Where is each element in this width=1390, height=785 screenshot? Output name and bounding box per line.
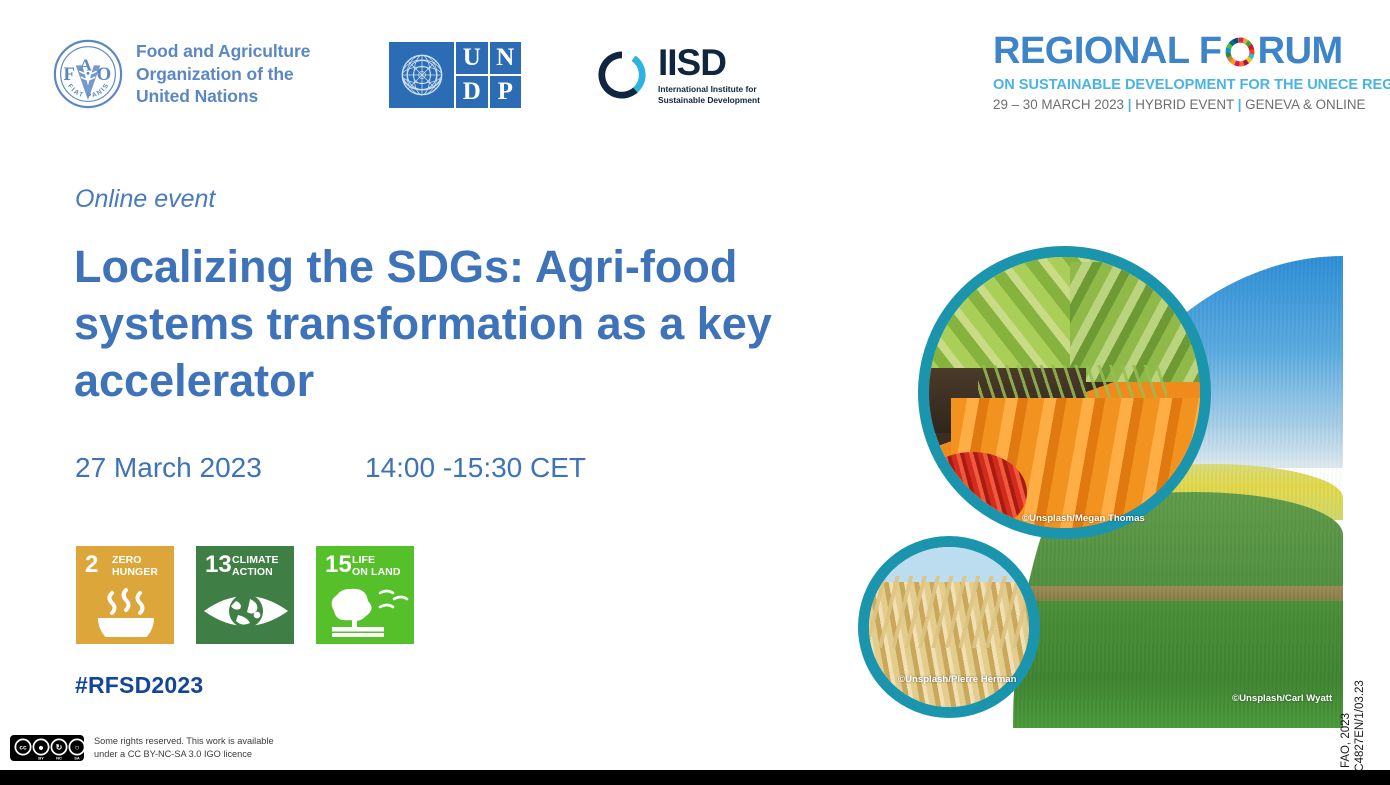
fao-copyright: ©FAO, 2023 [1340, 660, 1352, 780]
regional-forum-details: 29 – 30 MARCH 2023 | HYBRID EVENT | GENE… [993, 97, 1353, 112]
wheat-photo-circle [858, 536, 1040, 718]
bowl-of-food-icon [76, 585, 176, 637]
event-date: 27 March 2023 [75, 452, 365, 484]
sdg-goal-15-label-line-1: LIFE [352, 555, 401, 567]
fao-wordmark-line-3: United Nations [136, 85, 310, 107]
bottom-black-bar [0, 770, 1390, 785]
tree-birds-icon [316, 585, 416, 637]
sdg-goal-13-label: CLIMATE ACTION [232, 555, 279, 579]
regional-forum-logo: REGIONAL F [993, 32, 1353, 112]
iisd-logo: IISD International Institute for Sustain… [598, 44, 760, 106]
regional-forum-location: GENEVA & ONLINE [1245, 97, 1365, 112]
regional-forum-dates: 29 – 30 MARCH 2023 [993, 97, 1124, 112]
sdg-goal-15-label: LIFE ON LAND [352, 555, 401, 579]
sdg-goal-13-label-line-2: ACTION [232, 567, 279, 579]
svg-text:cc: cc [19, 745, 27, 752]
separator-2: | [1238, 97, 1242, 112]
vegetables-photo-circle [918, 246, 1211, 539]
separator-1: | [1128, 97, 1132, 112]
svg-text:↻: ↻ [56, 743, 63, 752]
sdg-goal-2-number: 2 [85, 553, 98, 577]
sdg-goal-2-label-line-1: ZERO [112, 555, 158, 567]
page-title-line-3: accelerator [74, 352, 822, 409]
sdg-goal-13-number: 13 [205, 553, 232, 577]
sdg-goal-list: 2 ZERO HUNGER 13 CLIMATE ACTION [76, 546, 414, 644]
fao-logo: F A O FIAT PANIS Food and Agriculture Or… [52, 38, 310, 110]
wheat-photo-credit: ©Unsplash/Pierre Herman [898, 674, 1017, 685]
creative-commons-badge-icon: cc ● ↻ ○ BYNCSA [10, 735, 84, 761]
iisd-subtitle-line-2: Sustainable Development [658, 95, 760, 106]
sdg-goal-13-label-line-1: CLIMATE [232, 555, 279, 567]
vegetables-photo-credit: ©Unsplash/Megan Thomas [1022, 513, 1145, 524]
un-emblem-icon [388, 41, 455, 109]
sdg-goal-15-tile: 15 LIFE ON LAND [316, 546, 414, 644]
chili-peppers-region [918, 452, 1026, 533]
regional-forum-title-before: REGIONAL F [993, 32, 1222, 70]
svg-text:NC: NC [56, 756, 62, 761]
sdg-goal-2-tile: 2 ZERO HUNGER [76, 546, 174, 644]
regional-forum-title-after: RUM [1258, 32, 1343, 70]
page-title-line-1: Localizing the SDGs: Agri-food [74, 238, 822, 295]
iisd-subtitle-line-1: International Institute for [658, 84, 760, 95]
image-collage: ©Unsplash/Megan Thomas ©Unsplash/Pierre … [850, 238, 1350, 728]
sdg-goal-2-label: ZERO HUNGER [112, 555, 158, 579]
svg-text:F: F [64, 64, 75, 85]
svg-text:○: ○ [75, 743, 80, 752]
vegetables-photo [929, 257, 1200, 528]
event-kicker: Online event [75, 185, 215, 214]
sdg-goal-13-tile: 13 CLIMATE ACTION [196, 546, 294, 644]
sdg-color-wheel-icon [1223, 35, 1257, 69]
undp-letter-u: U [455, 41, 489, 75]
licence-text: Some rights reserved. This work is avail… [94, 735, 274, 762]
event-datetime: 27 March 2023 14:00 -15:30 CET [75, 452, 675, 484]
svg-text:SA: SA [74, 756, 80, 761]
licence-line-1: Some rights reserved. This work is avail… [94, 735, 274, 748]
svg-text:BY: BY [38, 756, 44, 761]
sdg-goal-2-label-line-2: HUNGER [112, 567, 158, 579]
iisd-subtitle: International Institute for Sustainable … [658, 84, 760, 106]
iisd-circle-icon [598, 51, 646, 99]
cucumbers-region [1070, 262, 1200, 381]
fao-wordmark: Food and Agriculture Organization of the… [136, 40, 310, 107]
regional-forum-subtitle: ON SUSTAINABLE DEVELOPMENT FOR THE UNECE… [993, 77, 1353, 93]
event-hashtag: #RFSD2023 [75, 672, 203, 699]
regional-forum-title: REGIONAL F [993, 32, 1353, 70]
fao-wordmark-line-1: Food and Agriculture [136, 40, 310, 62]
fao-seal-icon: F A O FIAT PANIS [52, 38, 124, 110]
undp-logo: U N D P [388, 41, 522, 109]
undp-letter-d: D [455, 75, 489, 109]
page-title-line-2: systems transformation as a key [74, 295, 822, 352]
regional-forum-format: HYBRID EVENT [1135, 97, 1234, 112]
event-time: 14:00 -15:30 CET [365, 452, 586, 484]
svg-text:●: ● [38, 743, 44, 754]
licence-line-2: under a CC BY-NC-SA 3.0 IGO licence [94, 748, 274, 761]
sdg-goal-15-number: 15 [325, 553, 352, 577]
fao-wordmark-line-2: Organization of the [136, 63, 310, 85]
undp-letter-n: N [489, 41, 523, 75]
partner-logo-bar: F A O FIAT PANIS Food and Agriculture Or… [0, 0, 1390, 135]
fao-publication-code: ©FAO, 2023 CC4827EN/1/03.23 [1340, 660, 1380, 780]
undp-letter-p: P [489, 75, 523, 109]
iisd-wordmark: IISD [658, 44, 760, 81]
page-title: Localizing the SDGs: Agri-food systems t… [74, 238, 822, 409]
field-photo-credit: ©Unsplash/Carl Wyatt [1232, 693, 1332, 704]
creative-commons-footer: cc ● ↻ ○ BYNCSA Some rights reserved. Th… [10, 735, 274, 762]
eye-earth-icon [196, 585, 296, 637]
sdg-goal-15-label-line-2: ON LAND [352, 567, 401, 579]
wheat-ears-highlight-region [869, 576, 1029, 648]
fao-document-code: CC4827EN/1/03.23 [1354, 660, 1366, 780]
